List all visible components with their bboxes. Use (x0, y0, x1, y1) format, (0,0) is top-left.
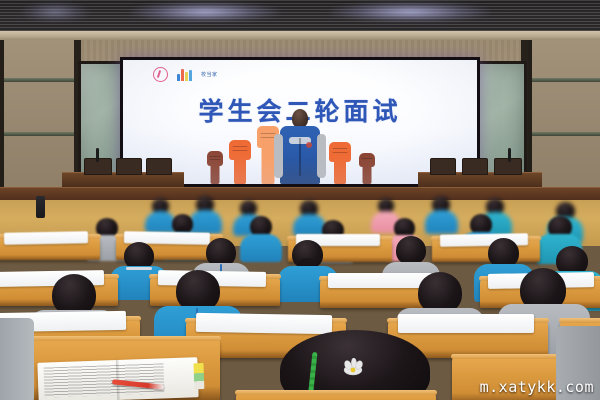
desk-front-center (236, 392, 436, 400)
student-body (189, 210, 222, 234)
book-text-lines (44, 363, 165, 397)
ceiling (0, 0, 600, 33)
stage-chair (146, 158, 172, 175)
ceiling-light (330, 2, 490, 22)
water-bottle (36, 196, 45, 218)
ceiling-light (20, 2, 90, 22)
logo-wordmark: 校当家 (201, 71, 218, 78)
paper-sheet (398, 314, 534, 333)
watermark: m.xatykk.com (480, 378, 594, 396)
student-body (240, 234, 282, 262)
bar-chart-logo-icon (177, 68, 192, 81)
paper-sheet (196, 313, 332, 334)
open-textbook (37, 357, 198, 400)
student-body (425, 210, 458, 234)
wall-ledge (4, 132, 78, 136)
wall-ledge (532, 78, 600, 82)
book-tabs (193, 363, 204, 389)
paper-sheet (328, 273, 432, 288)
microphone (508, 148, 511, 162)
stage-chair (116, 158, 142, 175)
paper-sheet (4, 231, 88, 244)
stage-chair (430, 158, 456, 175)
wall-ledge (4, 78, 78, 82)
projection-screen: 校当家 学生会二轮面试 (120, 57, 480, 187)
wall-ledge (532, 132, 600, 136)
pink-ring-logo-icon (153, 67, 168, 82)
stage-chair (462, 158, 488, 175)
slide-logos: 校当家 (153, 67, 218, 82)
ceiling-trim (0, 31, 600, 40)
ceiling-light (130, 2, 280, 22)
student-body (293, 214, 326, 236)
classroom-photo: 校当家 学生会二轮面试 (0, 0, 600, 400)
microphone (96, 148, 99, 162)
collar (126, 267, 152, 270)
seat-back (0, 318, 34, 400)
student-head (396, 236, 426, 265)
flower-hairclip-icon (340, 358, 366, 378)
slide-surface: 校当家 学生会二轮面试 (123, 60, 477, 184)
